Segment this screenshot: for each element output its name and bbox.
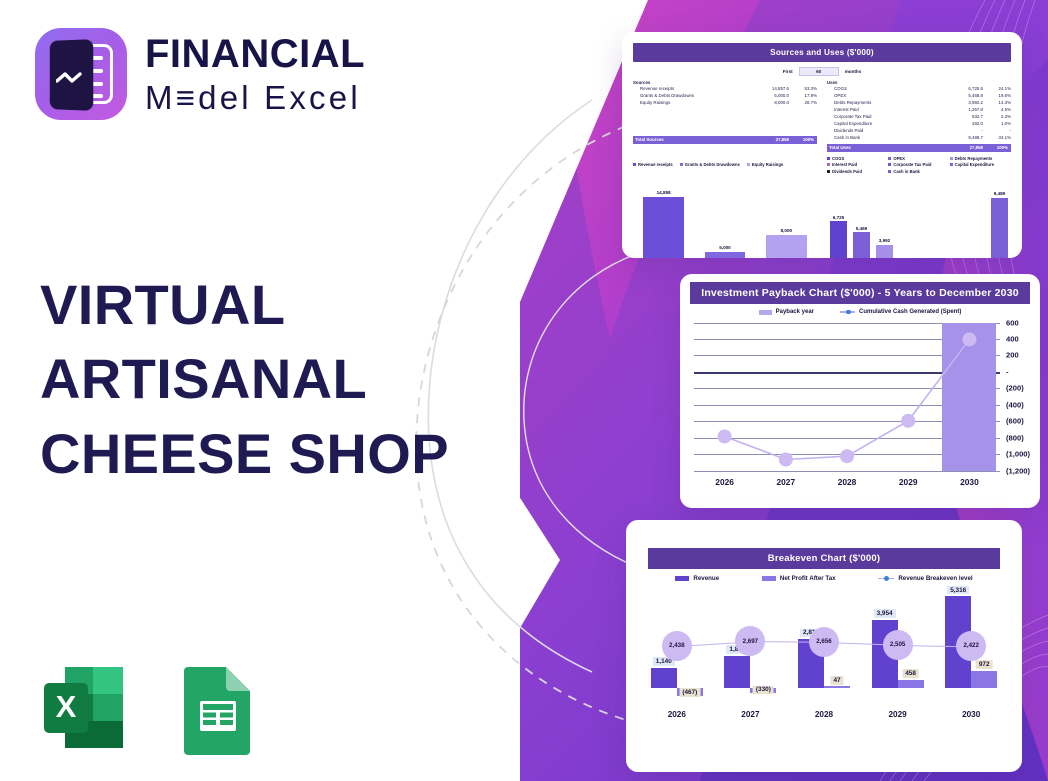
legend-label: OPEX — [893, 156, 905, 161]
legend-item: Debts Repayments — [950, 156, 1011, 161]
legend-item: Corporate Tax Paid — [888, 162, 949, 167]
table-row: Cash in Bank 9,488.7 34.1% — [827, 135, 1011, 142]
x-tick-label: 2026 — [640, 710, 714, 719]
row-label: Cash in Bank — [827, 135, 943, 142]
period-prefix-label: First — [783, 69, 793, 74]
total-percent: 100% — [789, 137, 817, 142]
wave-glyph-icon — [56, 72, 86, 84]
sources-uses-title: Sources and Uses ($'000) — [633, 43, 1011, 62]
npat-value-label: 972 — [976, 660, 993, 669]
bar-value-label: 8,000 — [781, 228, 793, 233]
legend-label: Revenue receipts — [638, 162, 673, 167]
legend-label: Revenue Breakeven level — [898, 575, 972, 582]
row-label: Dividends Paid — [827, 128, 943, 135]
page-title-line-1: VIRTUAL — [40, 268, 449, 342]
card-sources-and-uses[interactable]: Sources and Uses ($'000) First 60 months… — [622, 32, 1022, 258]
data-point — [779, 452, 793, 466]
bar-column: 5,469 — [853, 178, 870, 258]
row-percent: 1.0% — [983, 121, 1011, 128]
card-breakeven-chart[interactable]: Breakeven Chart ($'000) Revenue Net Prof… — [626, 520, 1022, 772]
revenue-value-label: 3,954 — [874, 609, 896, 618]
total-label: Total Uses — [827, 145, 943, 150]
card-investment-payback[interactable]: Investment Payback Chart ($'000) - 5 Yea… — [680, 274, 1040, 508]
bar-value-label: 9,489 — [994, 191, 1006, 196]
row-label: Equity Raisings — [633, 100, 749, 107]
table-row: Grants & Debts Drawdowns 5,000.0 17.9% — [633, 93, 817, 100]
legend-item-revenue: Revenue — [675, 575, 719, 582]
npat-bar — [824, 686, 850, 688]
payback-plot-area: 600400200-(200)(400)(600)(800)(1,000)(1,… — [694, 323, 1000, 471]
legend-item: Revenue receipts — [633, 156, 673, 174]
row-value: 632.7 — [943, 114, 983, 121]
data-point — [962, 332, 976, 346]
bar-column: 6,725 — [830, 178, 847, 258]
row-percent: 24.1% — [983, 86, 1011, 93]
x-tick-label: 2028 — [816, 477, 877, 487]
y-tick-label: 600 — [1006, 318, 1019, 327]
legend-item-breakeven-level: Revenue Breakeven level — [878, 575, 972, 582]
legend-label: Cash in Bank — [893, 169, 920, 174]
legend-swatch — [675, 576, 689, 581]
y-tick-label: (1,000) — [1006, 450, 1030, 459]
brand-name-secondary: M≡del Excel — [145, 81, 365, 114]
bar-column: 1,268 — [899, 178, 916, 258]
row-label: Interest Paid — [827, 107, 943, 114]
brand-name-primary: FINANCIAL — [145, 34, 365, 74]
sources-total-row: Total Sources 27,858 100% — [633, 136, 817, 144]
bar-column: 9,489 — [991, 178, 1008, 258]
bar-value-label: 14,858 — [657, 190, 671, 195]
row-percent: 19.6% — [983, 93, 1011, 100]
breakeven-data-point: 2,505 — [883, 630, 913, 660]
legend-swatch — [950, 157, 953, 160]
payback-line-series — [694, 323, 1000, 471]
data-point — [718, 429, 732, 443]
bar-column: 8,000 — [766, 178, 806, 258]
row-label: Grants & Debts Drawdowns — [633, 93, 749, 100]
legend-line-marker-icon — [878, 578, 894, 579]
legend-swatch — [762, 576, 776, 581]
legend-swatch — [888, 163, 891, 166]
legend-swatch — [888, 157, 891, 160]
data-point — [901, 413, 915, 427]
breakeven-data-point: 2,697 — [735, 626, 765, 656]
payback-legend: Payback year Cumulative Cash Generated (… — [680, 309, 1040, 317]
legend-label: Cumulative Cash Generated (Spent) — [859, 309, 961, 315]
legend-label: Capital Expenditure — [955, 162, 994, 167]
bar-column: 0 — [968, 178, 985, 258]
row-percent: 17.9% — [789, 93, 817, 100]
row-percent: 14.3% — [983, 100, 1011, 107]
total-percent: 100% — [983, 145, 1011, 150]
bar — [643, 197, 683, 258]
table-row: Corporate Tax Paid 632.7 2.3% — [827, 114, 1011, 121]
legend-label: Net Profit After Tax — [780, 575, 836, 582]
bar-column: 282 — [945, 178, 962, 258]
legend-swatch — [950, 163, 953, 166]
total-value: 27,858 — [943, 145, 983, 150]
period-selector-row: First 60 months — [622, 67, 1022, 76]
table-row: OPEX 5,468.8 19.6% — [827, 93, 1011, 100]
row-value: 14,857.6 — [749, 86, 789, 93]
brand-lockup: FINANCIAL M≡del Excel — [35, 28, 365, 120]
breakeven-data-point: 2,422 — [956, 631, 986, 661]
bar — [705, 252, 745, 258]
row-value: 6,725.5 — [943, 86, 983, 93]
legend-swatch — [759, 310, 772, 315]
row-value: 3,992.2 — [943, 100, 983, 107]
legend-item: Equity Raisings — [747, 156, 783, 174]
x-tick-label: 2030 — [939, 477, 1000, 487]
bar — [853, 232, 870, 258]
legend-label: Debts Repayments — [955, 156, 993, 161]
y-tick-label: (600) — [1006, 417, 1024, 426]
legend-line-marker-icon — [840, 311, 855, 312]
npat-value-label: (467) — [679, 688, 700, 697]
row-label: Debts Repayments — [827, 100, 943, 107]
app-compatibility-icons: X — [38, 663, 264, 755]
legend-label: COGS — [832, 156, 844, 161]
legend-swatch — [747, 163, 750, 166]
uses-chart-legend: COGSOPEXDebts RepaymentsInterest PaidCor… — [827, 156, 1011, 176]
table-row: Dividends Paid - - — [827, 128, 1011, 135]
legend-label: Equity Raisings — [752, 162, 783, 167]
row-label: OPEX — [827, 93, 943, 100]
bar-value-label: 5,469 — [856, 226, 868, 231]
period-suffix-label: months — [845, 69, 862, 74]
row-value: 282.0 — [943, 121, 983, 128]
table-row: Equity Raisings 8,000.0 28.7% — [633, 100, 817, 107]
row-value: 5,468.8 — [943, 93, 983, 100]
table-row: Interest Paid 1,267.8 4.6% — [827, 107, 1011, 114]
revenue-value-label: 5,316 — [947, 586, 969, 595]
bar-value-label: 3,992 — [879, 238, 891, 243]
microsoft-excel-icon: X — [38, 663, 130, 755]
x-tick-label: 2029 — [878, 477, 939, 487]
x-tick-label: 2030 — [934, 710, 1008, 719]
legend-item: OPEX — [888, 156, 949, 161]
legend-swatch — [680, 163, 683, 166]
legend-swatch — [633, 163, 636, 166]
row-value: - — [943, 128, 983, 135]
uses-table: Uses COGS 6,725.5 24.1% OPEX 5,468.8 19.… — [827, 80, 1011, 152]
y-tick-label: (200) — [1006, 384, 1024, 393]
breakeven-data-point: 2,438 — [662, 631, 692, 661]
row-percent: 2.3% — [983, 114, 1011, 121]
npat-value-label: (330) — [753, 686, 774, 695]
y-tick-label: (800) — [1006, 433, 1024, 442]
bar — [830, 221, 847, 258]
row-percent: 4.6% — [983, 107, 1011, 114]
svg-text:X: X — [56, 689, 77, 724]
x-tick-label: 2028 — [787, 710, 861, 719]
row-label: Corporate Tax Paid — [827, 114, 943, 121]
total-label: Total Sources — [633, 137, 749, 142]
row-percent: - — [983, 128, 1011, 135]
legend-swatch — [888, 170, 891, 173]
page-title: VIRTUAL ARTISANAL CHEESE SHOP — [40, 268, 449, 491]
page-title-line-3: CHEESE SHOP — [40, 417, 449, 491]
sources-table: Sources Revenue receipts 14,857.6 53.3% … — [633, 80, 817, 152]
npat-value-label: 47 — [830, 676, 843, 685]
period-months-input[interactable]: 60 — [799, 67, 839, 76]
table-row: Debts Repayments 3,992.2 14.3% — [827, 100, 1011, 107]
data-point — [840, 449, 854, 463]
bar — [766, 235, 806, 258]
row-value: 9,488.7 — [943, 135, 983, 142]
breakeven-plot-area: 1,140(467)1,848(330)2,814473,9544585,316… — [640, 592, 1008, 700]
row-label: Capital Expenditure — [827, 121, 943, 128]
uses-bar-chart: 6,7255,4693,9921,26863328209,489 — [827, 178, 1011, 258]
y-tick-label: (400) — [1006, 400, 1024, 409]
legend-label: Revenue — [693, 575, 719, 582]
legend-item: Grants & Debts Drawdowns — [680, 156, 740, 174]
npat-bar — [971, 671, 997, 688]
y-tick-label: 400 — [1006, 334, 1019, 343]
legend-item-payback-year: Payback year — [759, 309, 814, 315]
row-label: Revenue receipts — [633, 86, 749, 93]
legend-swatch — [827, 163, 830, 166]
bar — [876, 245, 893, 258]
x-tick-label: 2027 — [755, 477, 816, 487]
financial-model-excel-logo-icon — [35, 28, 127, 120]
google-sheets-icon — [172, 663, 264, 755]
x-tick-label: 2029 — [861, 710, 935, 719]
row-value: 8,000.0 — [749, 100, 789, 107]
bar-column: 633 — [922, 178, 939, 258]
row-percent: 53.3% — [789, 86, 817, 93]
bar-column: 14,858 — [643, 178, 683, 258]
uses-total-row: Total Uses 27,858 100% — [827, 144, 1011, 152]
table-row: COGS 6,725.5 24.1% — [827, 86, 1011, 93]
row-percent: 34.1% — [983, 135, 1011, 142]
bar-column: 5,000 — [705, 178, 745, 258]
legend-swatch — [827, 170, 830, 173]
legend-label: Payback year — [776, 309, 814, 315]
y-tick-label: - — [1006, 367, 1009, 376]
legend-item: Dividends Paid — [827, 169, 888, 174]
gridline — [694, 471, 1000, 472]
npat-bar — [898, 680, 924, 688]
legend-item-cumulative-cash: Cumulative Cash Generated (Spent) — [840, 309, 961, 315]
row-label: COGS — [827, 86, 943, 93]
breakeven-legend: Revenue Net Profit After Tax Revenue Bre… — [626, 575, 1022, 584]
payback-y-axis: 600400200-(200)(400)(600)(800)(1,000)(1,… — [1000, 323, 1040, 471]
table-row: Revenue receipts 14,857.6 53.3% — [633, 86, 817, 93]
sources-bar-chart: 14,8585,0008,000 — [633, 178, 817, 258]
legend-swatch — [827, 157, 830, 160]
legend-label: Grants & Debts Drawdowns — [685, 162, 740, 167]
payback-title: Investment Payback Chart ($'000) - 5 Yea… — [690, 282, 1030, 304]
breakeven-title: Breakeven Chart ($'000) — [648, 548, 1000, 569]
legend-item: Capital Expenditure — [950, 162, 1011, 167]
bar-column: 3,992 — [876, 178, 893, 258]
breakeven-data-point: 2,656 — [809, 627, 839, 657]
revenue-bar — [651, 668, 677, 688]
page-title-line-2: ARTISANAL — [40, 342, 449, 416]
sources-chart-legend: Revenue receiptsGrants & Debts Drawdowns… — [633, 156, 817, 176]
table-row: Capital Expenditure 282.0 1.0% — [827, 121, 1011, 128]
legend-item: Interest Paid — [827, 162, 888, 167]
npat-value-label: 458 — [902, 669, 919, 678]
y-tick-label: (1,200) — [1006, 466, 1030, 475]
y-tick-label: 200 — [1006, 351, 1019, 360]
row-value: 5,000.0 — [749, 93, 789, 100]
bar-value-label: 6,725 — [833, 215, 845, 220]
total-value: 27,858 — [749, 137, 789, 142]
x-tick-label: 2027 — [714, 710, 788, 719]
legend-item: COGS — [827, 156, 888, 161]
x-tick-label: 2026 — [694, 477, 755, 487]
row-value: 1,267.8 — [943, 107, 983, 114]
breakeven-x-axis: 20262027202820292030 — [640, 710, 1008, 719]
bar-value-label: 5,000 — [719, 245, 731, 250]
bar — [991, 198, 1008, 258]
legend-label: Interest Paid — [832, 162, 857, 167]
legend-label: Corporate Tax Paid — [893, 162, 931, 167]
row-percent: 28.7% — [789, 100, 817, 107]
payback-x-axis: 20262027202820292030 — [694, 477, 1000, 487]
revenue-bar — [724, 656, 750, 688]
legend-item-npat: Net Profit After Tax — [762, 575, 836, 582]
legend-item: Cash in Bank — [888, 169, 949, 174]
legend-label: Dividends Paid — [832, 169, 862, 174]
